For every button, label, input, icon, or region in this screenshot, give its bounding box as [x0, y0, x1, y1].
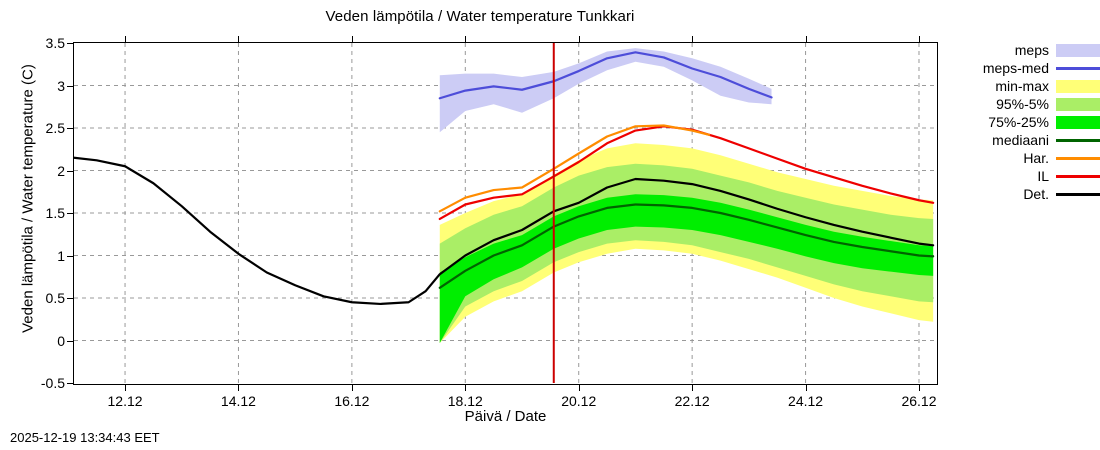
- y-tick-mark: [67, 256, 74, 257]
- legend-item-meps[interactable]: meps: [965, 41, 1100, 59]
- x-tick-label: 26.12: [901, 393, 936, 409]
- legend-item-95-5[interactable]: 95%-5%: [965, 95, 1100, 113]
- x-tick-mark: [692, 36, 693, 43]
- legend-label: 95%-5%: [996, 96, 1056, 112]
- legend-item-meps-med[interactable]: meps-med: [965, 59, 1100, 77]
- x-tick-mark: [579, 36, 580, 43]
- x-tick-label: 22.12: [675, 393, 710, 409]
- y-tick-mark: [67, 86, 74, 87]
- legend-swatch-icon: [1056, 133, 1100, 147]
- legend: mepsmeps-medmin-max95%-5%75%-25%mediaani…: [965, 41, 1100, 203]
- x-tick-label: 16.12: [334, 393, 369, 409]
- legend-swatch-icon: [1056, 43, 1100, 57]
- y-tick-label: 1: [57, 248, 65, 264]
- y-tick-mark: [67, 341, 74, 342]
- x-tick-mark: [238, 36, 239, 43]
- y-tick-mark: [67, 171, 74, 172]
- legend-item-mediaani[interactable]: mediaani: [965, 131, 1100, 149]
- plot-area: -0.500.511.522.533.5 12.1214.1216.1218.1…: [73, 42, 938, 385]
- y-tick-label: 3.5: [46, 35, 65, 51]
- y-tick-label: 2.5: [46, 120, 65, 136]
- legend-swatch-icon: [1056, 97, 1100, 111]
- generation-timestamp: 2025-12-19 13:34:43 EET: [10, 430, 160, 445]
- legend-label: Har.: [1023, 150, 1056, 166]
- x-tick-mark: [352, 384, 353, 391]
- legend-swatch-icon: [1056, 169, 1100, 183]
- x-tick-mark: [692, 384, 693, 391]
- legend-swatch-icon: [1056, 61, 1100, 75]
- y-tick-mark: [67, 43, 74, 44]
- x-tick-label: 20.12: [561, 393, 596, 409]
- legend-item-har[interactable]: Har.: [965, 149, 1100, 167]
- chart-page: Veden lämpötila / Water temperature Tunk…: [0, 0, 1100, 450]
- legend-swatch-icon: [1056, 115, 1100, 129]
- x-tick-mark: [465, 384, 466, 391]
- y-tick-mark: [67, 213, 74, 214]
- legend-label: IL: [1037, 168, 1056, 184]
- x-tick-label: 18.12: [448, 393, 483, 409]
- legend-item-det[interactable]: Det.: [965, 185, 1100, 203]
- legend-swatch-icon: [1056, 187, 1100, 201]
- y-tick-label: 3: [57, 78, 65, 94]
- x-tick-mark: [579, 384, 580, 391]
- legend-label: mediaani: [992, 132, 1056, 148]
- x-tick-mark: [806, 36, 807, 43]
- legend-label: meps-med: [983, 60, 1056, 76]
- x-tick-mark: [465, 36, 466, 43]
- x-axis-label: Päivä / Date: [73, 408, 938, 425]
- chart-title: Veden lämpötila / Water temperature Tunk…: [0, 8, 960, 25]
- y-tick-label: 1.5: [46, 205, 65, 221]
- plot-canvas: [74, 43, 937, 384]
- y-tick-label: -0.5: [41, 375, 65, 391]
- legend-item-il[interactable]: IL: [965, 167, 1100, 185]
- x-tick-mark: [238, 384, 239, 391]
- x-tick-mark: [806, 384, 807, 391]
- legend-swatch-icon: [1056, 79, 1100, 93]
- legend-label: meps: [1015, 42, 1056, 58]
- x-tick-mark: [352, 36, 353, 43]
- x-tick-mark: [125, 36, 126, 43]
- legend-label: Det.: [1023, 186, 1056, 202]
- x-tick-label: 24.12: [788, 393, 823, 409]
- y-tick-mark: [67, 383, 74, 384]
- chart-svg: [74, 43, 936, 383]
- legend-label: min-max: [995, 78, 1056, 94]
- y-tick-mark: [67, 128, 74, 129]
- y-tick-label: 0: [57, 333, 65, 349]
- x-tick-mark: [125, 384, 126, 391]
- x-tick-mark: [919, 36, 920, 43]
- y-tick-label: 0.5: [46, 290, 65, 306]
- y-tick-mark: [67, 298, 74, 299]
- y-tick-label: 2: [57, 163, 65, 179]
- legend-label: 75%-25%: [988, 114, 1056, 130]
- legend-swatch-icon: [1056, 151, 1100, 165]
- y-axis-label: Veden lämpötila / Water temperature (C): [20, 19, 37, 379]
- legend-item-min-max[interactable]: min-max: [965, 77, 1100, 95]
- band-meps: [440, 48, 772, 132]
- x-tick-label: 14.12: [221, 393, 256, 409]
- x-tick-label: 12.12: [108, 393, 143, 409]
- legend-item-75-25[interactable]: 75%-25%: [965, 113, 1100, 131]
- x-tick-mark: [919, 384, 920, 391]
